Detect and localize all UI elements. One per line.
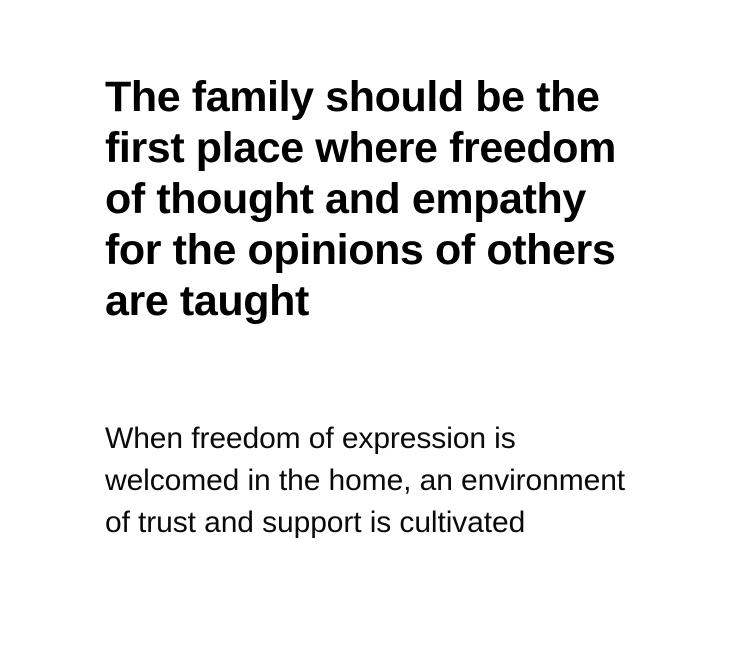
headline-block: The family should be the first place whe… (105, 72, 645, 327)
subtitle-text: When freedom of expression is welcomed i… (105, 418, 641, 544)
slide-canvas: The family should be the first place whe… (0, 0, 750, 650)
page-title: The family should be the first place whe… (105, 72, 633, 327)
subheading-block: When freedom of expression is welcomed i… (105, 418, 650, 544)
